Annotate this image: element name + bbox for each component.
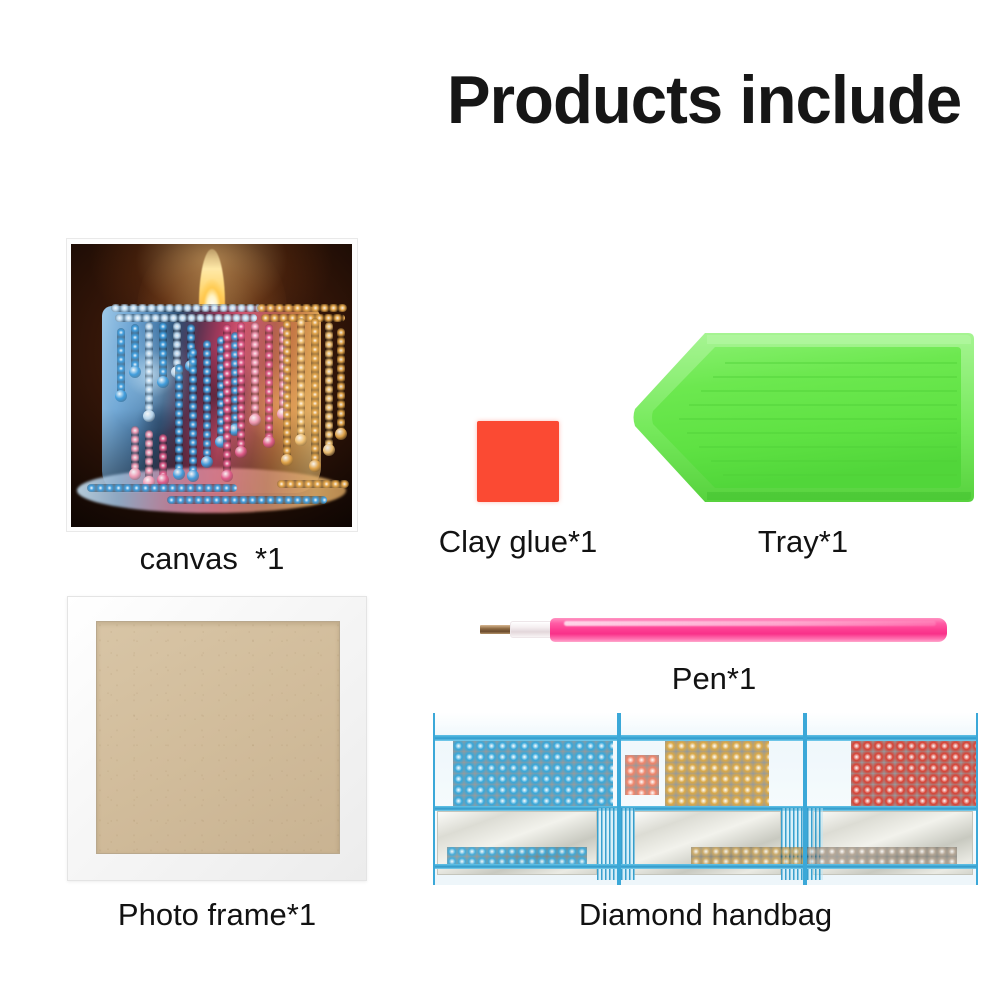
pen-label: Pen*1	[614, 661, 814, 697]
bag-zip-ribs	[621, 808, 635, 880]
rhinestone-bag-2	[619, 713, 805, 885]
canvas-image	[66, 238, 358, 532]
bag-bottom-seal	[435, 864, 617, 869]
gem-fill-blue	[453, 741, 613, 807]
photo-frame-backing	[96, 621, 340, 854]
rhinestone-bag-1	[433, 713, 619, 885]
rhinestone-bags-image	[433, 713, 978, 885]
rhinestone-bag-3	[805, 713, 978, 885]
tray-shape	[633, 331, 974, 504]
rhinestone-overlay	[71, 244, 352, 527]
bag-bottom-seal	[621, 864, 803, 869]
gem-fill-coral	[625, 755, 659, 795]
gem-fill-red-bottom	[807, 847, 957, 864]
gem-fill-gold	[665, 741, 769, 807]
page-title: Products include	[447, 62, 979, 138]
bag-gloss	[621, 713, 803, 737]
gem-fill-blue-bottom	[447, 847, 587, 864]
bag-zip-ribs	[597, 808, 619, 880]
bag-gloss	[435, 713, 617, 737]
pen-metal-tip	[480, 625, 513, 634]
clay-glue-label: Clay glue*1	[418, 524, 618, 560]
bag-zip-ribs	[807, 808, 823, 880]
photo-frame-label: Photo frame*1	[67, 897, 367, 933]
bag-zip-ribs	[781, 808, 805, 880]
photo-frame-image	[67, 596, 367, 881]
canvas-artwork-image	[71, 244, 352, 527]
clay-glue-square	[477, 421, 559, 502]
gem-fill-gold-bottom	[691, 847, 805, 864]
pen-highlight	[564, 621, 936, 626]
product-include-infographic: Products include	[0, 0, 1001, 1001]
canvas-label: canvas *1	[66, 541, 358, 577]
drill-pen-shape	[480, 617, 947, 643]
bag-gloss	[807, 713, 976, 737]
tray-label: Tray*1	[703, 524, 903, 560]
bag-bottom-seal	[807, 864, 976, 869]
diamond-handbag-label: Diamond handbag	[433, 897, 978, 933]
gem-fill-red	[851, 741, 977, 807]
